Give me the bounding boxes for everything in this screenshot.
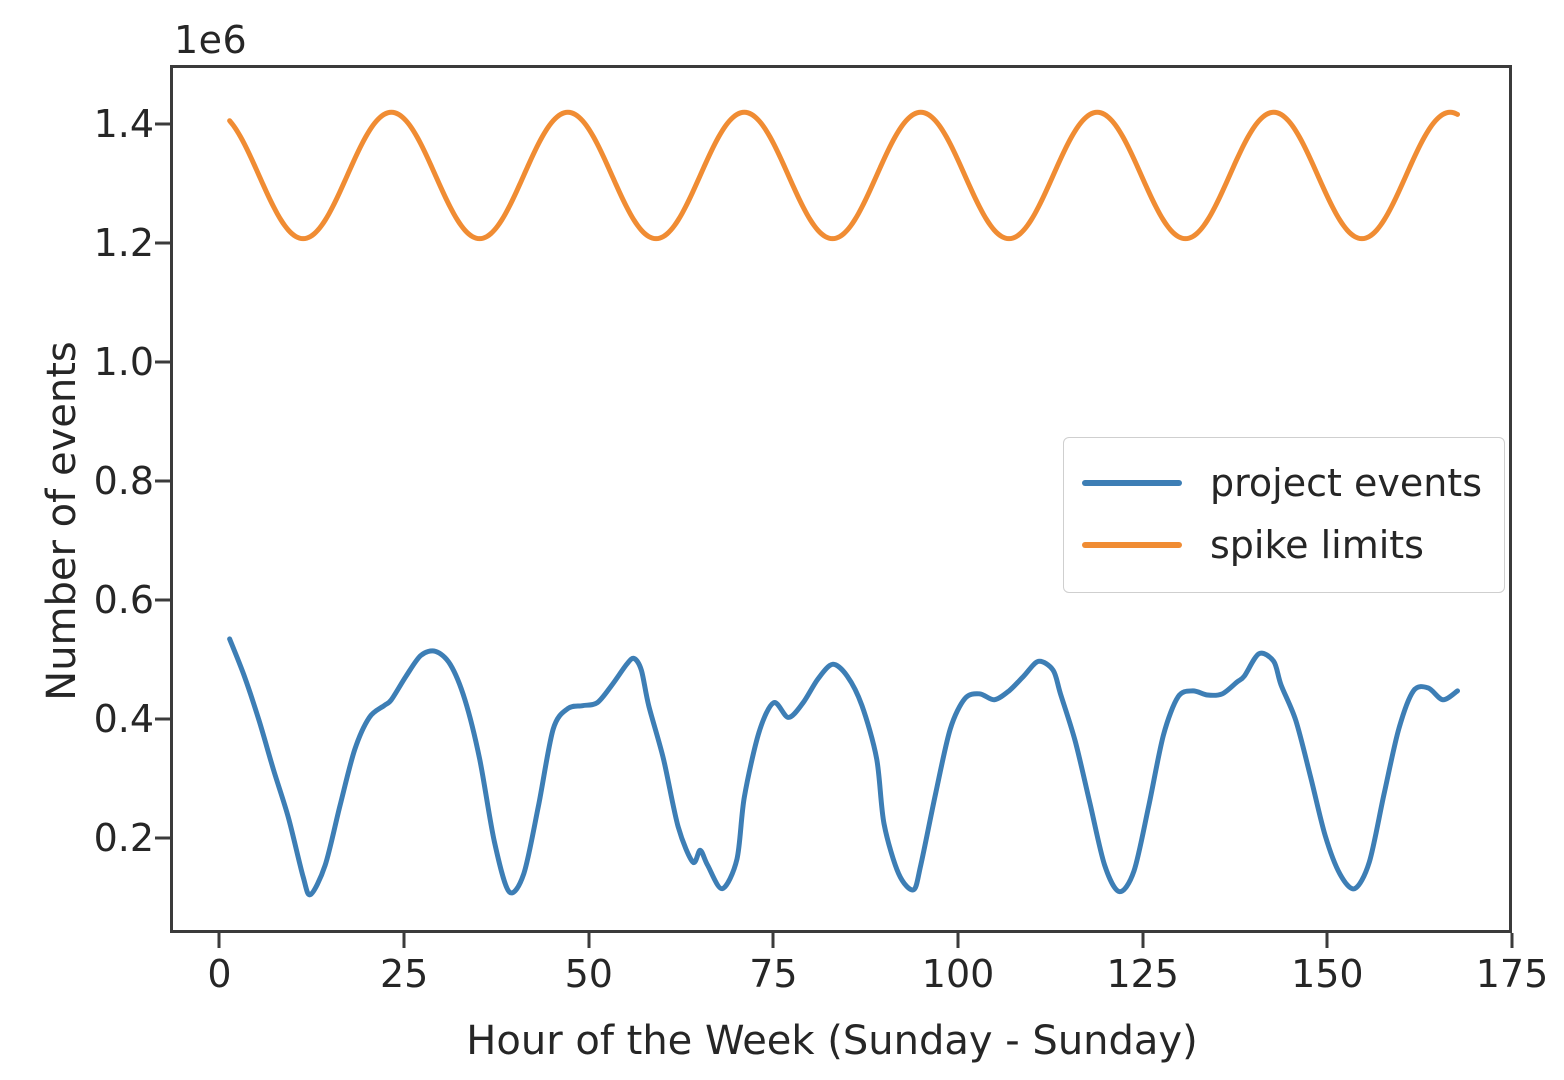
chart-figure: 1e6 0.20.40.60.81.01.21.4 02550751001251…	[0, 0, 1564, 1080]
y-tick-label: 1.4	[94, 102, 154, 146]
x-tick-label: 100	[922, 952, 995, 996]
y-tick-mark	[155, 123, 170, 126]
x-tick-mark	[957, 933, 960, 948]
y-tick-label: 1.0	[94, 340, 154, 384]
line-project-events	[230, 639, 1458, 895]
y-tick-label: 0.6	[94, 578, 154, 622]
legend-swatch-project-events	[1082, 480, 1182, 486]
legend-item-spike-limits[interactable]: spike limits	[1082, 514, 1482, 576]
y-axis-offset-text: 1e6	[174, 18, 247, 62]
x-tick-mark	[403, 933, 406, 948]
y-tick-label: 0.4	[94, 697, 154, 741]
x-tick-label: 175	[1476, 952, 1549, 996]
legend-label-project-events: project events	[1210, 461, 1482, 505]
y-tick-label: 1.2	[94, 221, 154, 265]
y-tick-mark	[155, 480, 170, 483]
x-tick-label: 75	[749, 952, 797, 996]
y-tick-mark	[155, 599, 170, 602]
x-tick-label: 25	[380, 952, 428, 996]
y-tick-mark	[155, 836, 170, 839]
y-tick-label: 0.8	[94, 459, 154, 503]
y-tick-mark	[155, 717, 170, 720]
y-tick-label: 0.2	[94, 816, 154, 860]
x-tick-mark	[772, 933, 775, 948]
x-tick-label: 125	[1106, 952, 1179, 996]
y-axis-label: Number of events	[39, 141, 85, 901]
legend-label-spike-limits: spike limits	[1210, 523, 1424, 567]
x-tick-label: 0	[207, 952, 231, 996]
x-tick-mark	[218, 933, 221, 948]
x-tick-mark	[1141, 933, 1144, 948]
x-tick-mark	[1511, 933, 1514, 948]
chart-legend[interactable]: project events spike limits	[1063, 437, 1505, 593]
x-axis-label: Hour of the Week (Sunday - Sunday)	[0, 1018, 1564, 1064]
legend-swatch-spike-limits	[1082, 542, 1182, 548]
y-tick-mark	[155, 242, 170, 245]
x-tick-label: 150	[1291, 952, 1364, 996]
legend-item-project-events[interactable]: project events	[1082, 452, 1482, 514]
x-axis-label-text: Hour of the Week (Sunday - Sunday)	[466, 1018, 1197, 1064]
line-spike-limits	[230, 112, 1458, 238]
x-tick-mark	[587, 933, 590, 948]
x-tick-label: 50	[565, 952, 613, 996]
x-tick-mark	[1326, 933, 1329, 948]
y-tick-mark	[155, 361, 170, 364]
